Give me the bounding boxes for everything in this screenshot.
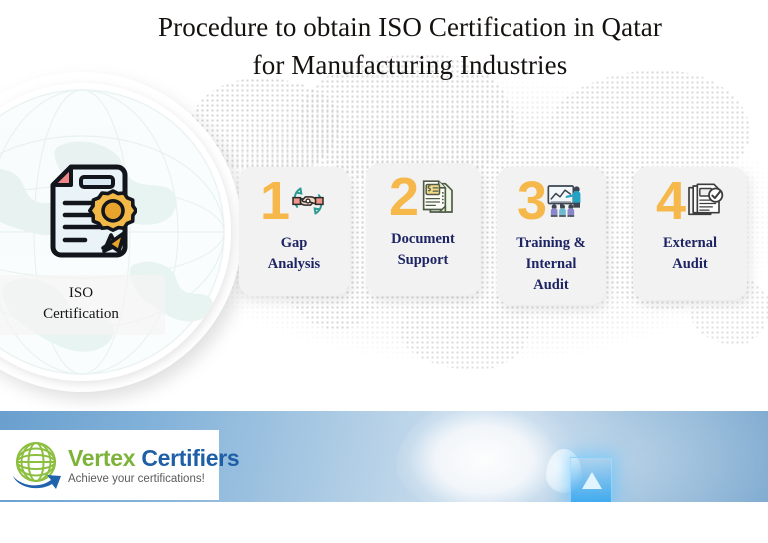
step-label-line-2: Audit: [639, 254, 741, 275]
step-card-header: 2: [366, 163, 480, 225]
company-logo[interactable]: Vertex Certifiers Achieve your certifica…: [0, 430, 219, 500]
step-label-line-1: Gap: [245, 233, 343, 254]
step-number: 1: [260, 174, 288, 228]
step-number: 3: [517, 174, 545, 228]
step-card-label: Gap Analysis: [239, 229, 349, 285]
step-label-line-1: Document: [372, 229, 474, 250]
step-label-line-2: Analysis: [245, 254, 343, 275]
globe-arrow-logo-icon: [10, 439, 66, 491]
step-label-line-2: Internal: [503, 254, 599, 275]
step-label-line-2: Support: [372, 250, 474, 271]
hub-label-line-1: ISO: [1, 283, 161, 304]
training-presentation-icon: [545, 181, 585, 221]
step-label-line-1: External: [639, 233, 741, 254]
step-card-document-support[interactable]: 2 D: [366, 163, 480, 296]
step-card-header: 3: [497, 167, 605, 229]
certificate-document-seal-icon: [41, 161, 137, 261]
page-title-line-1: Procedure to obtain ISO Certification in…: [90, 8, 730, 46]
step-number: 4: [656, 174, 684, 228]
step-card-external-audit[interactable]: 4 External Audit: [633, 167, 747, 300]
step-card-header: 4: [633, 167, 747, 229]
handshake-partnership-icon: [288, 181, 328, 221]
step-card-label: Training & Internal Audit: [497, 229, 605, 306]
iso-certification-hub: ISO Certification: [0, 72, 242, 392]
hub-inner-circle: ISO Certification: [0, 83, 231, 381]
documents-checkmark-icon: [684, 181, 724, 221]
hub-label-line-2: Certification: [1, 304, 161, 325]
step-card-gap-analysis[interactable]: 1 Gap Analysis: [239, 167, 349, 296]
logo-brand-part-2: Certifiers: [141, 445, 239, 471]
step-label-line-3: Audit: [503, 275, 599, 296]
logo-brand-part-1: Vertex: [68, 445, 135, 471]
document-stack-icon: [417, 177, 457, 217]
step-card-header: 1: [239, 167, 349, 229]
step-number: 2: [389, 170, 417, 224]
page-title: Procedure to obtain ISO Certification in…: [90, 8, 730, 84]
page-title-line-2: for Manufacturing Industries: [90, 46, 730, 84]
step-card-training-internal-audit[interactable]: 3: [497, 167, 605, 305]
hub-label: ISO Certification: [0, 275, 165, 335]
glowing-touch-button-graphic: [570, 457, 612, 503]
step-card-label: External Audit: [633, 229, 747, 285]
logo-tagline: Achieve your certifications!: [68, 472, 239, 487]
logo-brand-name: Vertex Certifiers: [68, 446, 239, 471]
iso-certification-infographic: Procedure to obtain ISO Certification in…: [0, 0, 768, 543]
step-card-label: Document Support: [366, 225, 480, 281]
step-label-line-1: Training &: [503, 233, 599, 254]
